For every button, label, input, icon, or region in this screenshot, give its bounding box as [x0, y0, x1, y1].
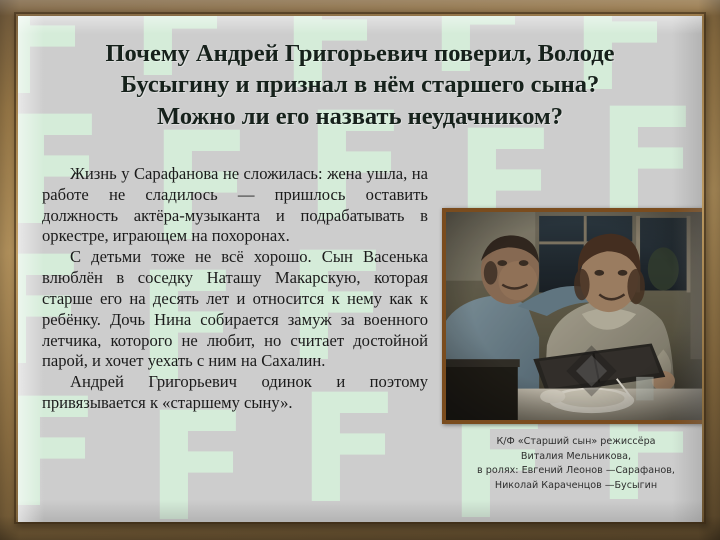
body-paragraph: Андрей Григорьевич одинок и поэтому прив…: [42, 372, 428, 414]
slide-content: Почему Андрей Григорьевич поверил, Волод…: [18, 16, 702, 522]
film-still-photo: [442, 208, 702, 424]
slide-title-line: Можно ли его назвать неудачником?: [32, 101, 688, 132]
slide-title-line: Бусыгину и признал в нём старшего сына?: [32, 69, 688, 100]
slide-content-board: F F F F F F F F F F F F F F F F F F F F …: [18, 16, 702, 522]
film-still-image: [446, 212, 702, 420]
photo-caption: К/Ф «Старший сын» режиссёра Виталия Мель…: [442, 435, 702, 493]
slide-body-text: Жизнь у Сарафанова не сложилась: жена уш…: [42, 164, 428, 414]
slide-title: Почему Андрей Григорьевич поверил, Волод…: [32, 38, 688, 132]
caption-line: Николай Караченцов —Бусыгин: [442, 479, 702, 494]
presentation-slide: F F F F F F F F F F F F F F F F F F F F …: [0, 0, 720, 540]
caption-line: К/Ф «Старший сын» режиссёра: [442, 435, 702, 450]
body-paragraph: С детьми тоже не всё хорошо. Сын Васеньк…: [42, 247, 428, 372]
caption-line: Виталия Мельникова,: [442, 450, 702, 465]
slide-title-line: Почему Андрей Григорьевич поверил, Волод…: [32, 38, 688, 69]
body-paragraph: Жизнь у Сарафанова не сложилась: жена уш…: [42, 164, 428, 247]
caption-line: в ролях: Евгений Леонов —Сарафанов,: [442, 464, 702, 479]
